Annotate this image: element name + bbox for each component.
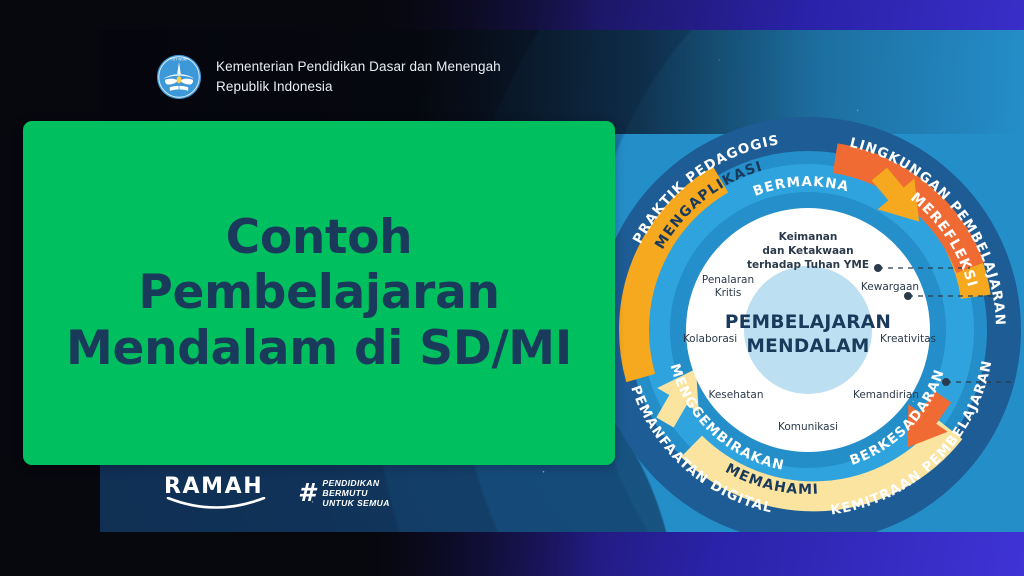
campaign-line3: UNTUK SEMUA <box>322 498 389 508</box>
center-label-line1: PEMBELAJARAN <box>725 312 891 333</box>
ministry-name-line2: Republik Indonesia <box>216 77 501 97</box>
core-label-kolaborasi: Kolaborasi <box>683 333 737 345</box>
campaign-text: PENDIDIKAN BERMUTU UNTUK SEMUA <box>322 478 389 508</box>
core-label-kewargaan: Kewargaan <box>861 281 919 293</box>
core-label-keimanan-l3: terhadap Tuhan YME <box>747 259 869 271</box>
title-panel: Contoh Pembelajaran Mendalam di SD/MI <box>23 121 615 465</box>
core-label-keimanan-l1: Keimanan <box>779 231 838 243</box>
core-label-kemandirian: Kemandirian <box>853 389 919 401</box>
core-label-penalaran-l2: Kritis <box>715 287 742 299</box>
tut-wuri-handayani-logo: TUT WURI <box>156 54 202 100</box>
ministry-name-line1: Kementerian Pendidikan Dasar dan Menenga… <box>216 57 501 77</box>
ramah-smile-icon <box>164 497 268 511</box>
ministry-name: Kementerian Pendidikan Dasar dan Menenga… <box>216 57 501 96</box>
core-label-kesehatan: Kesehatan <box>708 389 763 401</box>
page-title-line1: Contoh Pembelajaran <box>49 210 589 321</box>
svg-text:TUT WURI: TUT WURI <box>170 57 187 61</box>
core-label-kreativitas: Kreativitas <box>880 333 936 345</box>
center-label-line2: MENDALAM <box>746 336 869 357</box>
core-label-komunikasi: Komunikasi <box>778 421 838 433</box>
slide-stage: TUT WURI Kementerian Pendidikan Dasar da… <box>0 0 1024 576</box>
core-label-penalaran-l1: Penalaran <box>702 274 754 286</box>
slide-footer: RAMAH # PENDIDIKAN BERMUTU UNTUK SEMUA <box>164 476 390 510</box>
ministry-identity: TUT WURI Kementerian Pendidikan Dasar da… <box>156 54 501 100</box>
campaign-line1: PENDIDIKAN <box>322 478 389 488</box>
ramah-wordmark: RAMAH <box>164 476 268 498</box>
pembelajaran-mendalam-diagram: PRAKTIK PEDAGOGIS LINGKUNGAN PEMBELAJARA… <box>578 100 1024 532</box>
ramah-logo: RAMAH <box>164 476 268 510</box>
core-label-keimanan-l2: dan Ketakwaan <box>762 245 853 257</box>
campaign-line2: BERMUTU <box>322 488 389 498</box>
hashtag-icon: # <box>298 482 315 504</box>
pendidikan-bermutu-logo: # PENDIDIKAN BERMUTU UNTUK SEMUA <box>298 478 390 508</box>
page-title-line2: Mendalam di SD/MI <box>49 321 589 376</box>
page-title: Contoh Pembelajaran Mendalam di SD/MI <box>23 210 615 376</box>
